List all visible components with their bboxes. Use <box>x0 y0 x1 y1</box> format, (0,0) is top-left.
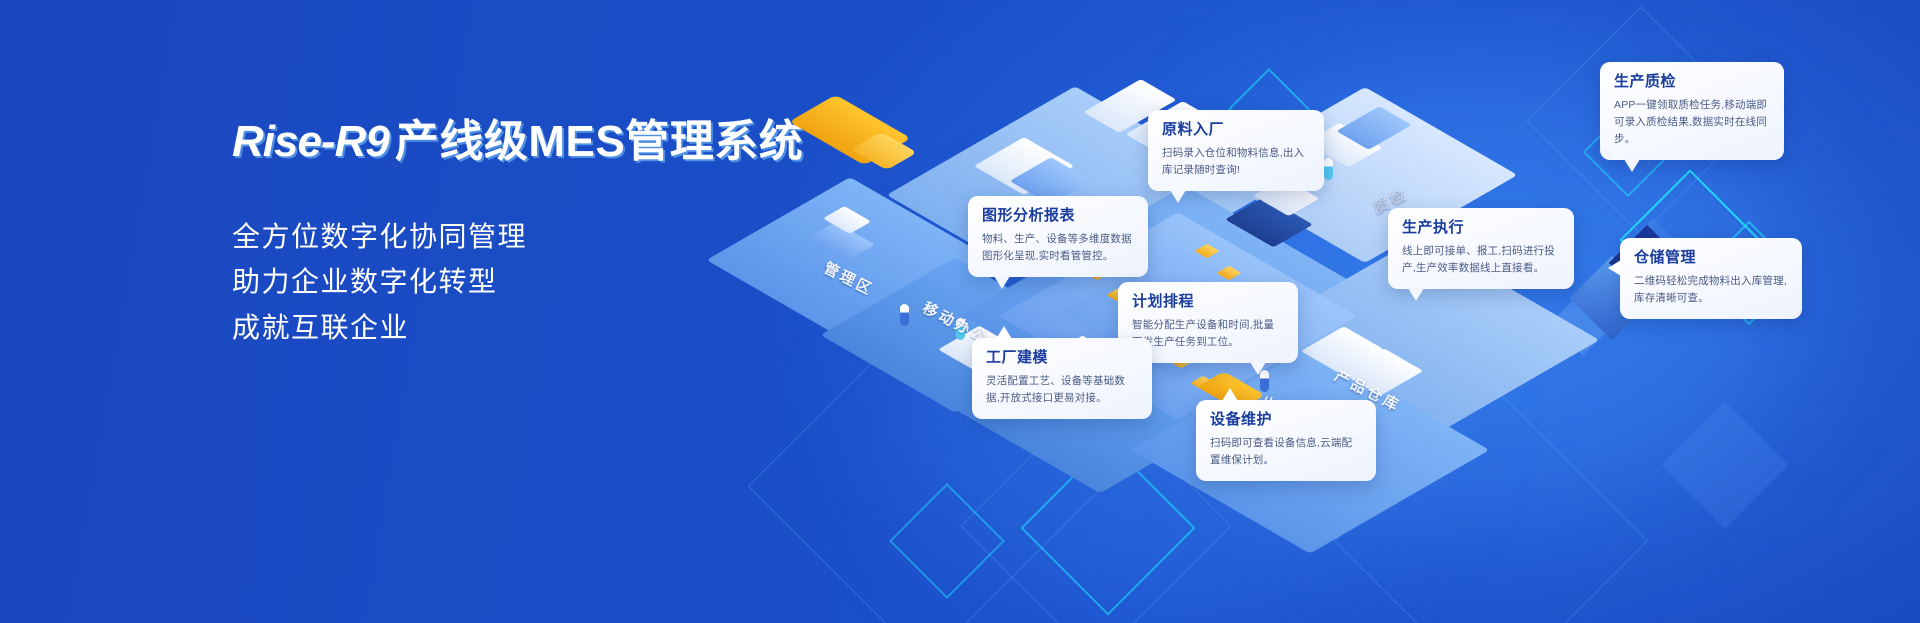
callout-title: 设备维护 <box>1210 411 1362 429</box>
brand-name: Rise-R9 <box>232 117 389 166</box>
worker-1 <box>900 304 909 326</box>
worker-5 <box>1324 158 1333 180</box>
callout-body: 扫码即可查看设备信息,云端配置维保计划。 <box>1210 435 1362 469</box>
callout-factory-modeling[interactable]: 工厂建模 灵活配置工艺、设备等基础数据,开放式接口更易对接。 <box>972 338 1152 419</box>
callout-tail-icon <box>1608 260 1621 276</box>
page-title: Rise-R9产线级MES管理系统 <box>232 120 852 164</box>
callout-body: 线上即可接单、报工,扫码进行投产,生产效率数据线上直接看。 <box>1402 243 1560 277</box>
callout-title: 仓储管理 <box>1634 249 1788 267</box>
callout-title: 生产质检 <box>1614 73 1770 91</box>
callout-body: 物料、生产、设备等多维度数据图形化呈现,实时看管管控。 <box>982 231 1134 265</box>
callout-title: 工厂建模 <box>986 349 1138 367</box>
product-title-cn: 产线级MES管理系统 <box>395 117 803 166</box>
subtitle-line-3: 成就互联企业 <box>232 305 852 350</box>
callout-raw-material-inbound[interactable]: 原料入厂 扫码录入仓位和物料信息,出入库记录随时查询! <box>1148 110 1324 191</box>
callout-tail-icon <box>1170 190 1186 203</box>
callout-body: 二维码轻松完成物料出入库管理,库存清晰可查。 <box>1634 273 1788 307</box>
callout-graph-analysis-report[interactable]: 图形分析报表 物料、生产、设备等多维度数据图形化呈现,实时看管管控。 <box>968 196 1148 277</box>
callout-tail-icon <box>1250 362 1266 375</box>
callout-body: 智能分配生产设备和时间,批量下发生产任务到工位。 <box>1132 317 1284 351</box>
callout-body: APP一键领取质检任务,移动端即可录入质检结果,数据实时在线同步。 <box>1614 97 1770 148</box>
callout-title: 原料入厂 <box>1162 121 1310 139</box>
callout-title: 图形分析报表 <box>982 207 1134 225</box>
callout-tail-icon <box>1222 388 1238 401</box>
callout-title: 计划排程 <box>1132 293 1284 311</box>
callout-body: 扫码录入仓位和物料信息,出入库记录随时查询! <box>1162 145 1310 179</box>
callout-tail-icon <box>1624 159 1640 172</box>
callout-warehouse-management[interactable]: 仓储管理 二维码轻松完成物料出入库管理,库存清晰可查。 <box>1620 238 1802 319</box>
callout-tail-icon <box>994 276 1010 289</box>
callout-tail-icon <box>1408 288 1424 301</box>
callout-equipment-maintenance[interactable]: 设备维护 扫码即可查看设备信息,云端配置维保计划。 <box>1196 400 1376 481</box>
callout-production-execution[interactable]: 生产执行 线上即可接单、报工,扫码进行投产,生产效率数据线上直接看。 <box>1388 208 1574 289</box>
callout-body: 灵活配置工艺、设备等基础数据,开放式接口更易对接。 <box>986 373 1138 407</box>
mes-marketing-banner: Rise-R9产线级MES管理系统 全方位数字化协同管理 助力企业数字化转型 成… <box>0 0 1920 623</box>
callout-production-quality-inspection[interactable]: 生产质检 APP一键领取质检任务,移动端即可录入质检结果,数据实时在线同步。 <box>1600 62 1784 160</box>
callout-title: 生产执行 <box>1402 219 1560 237</box>
callout-tail-icon <box>996 326 1012 339</box>
